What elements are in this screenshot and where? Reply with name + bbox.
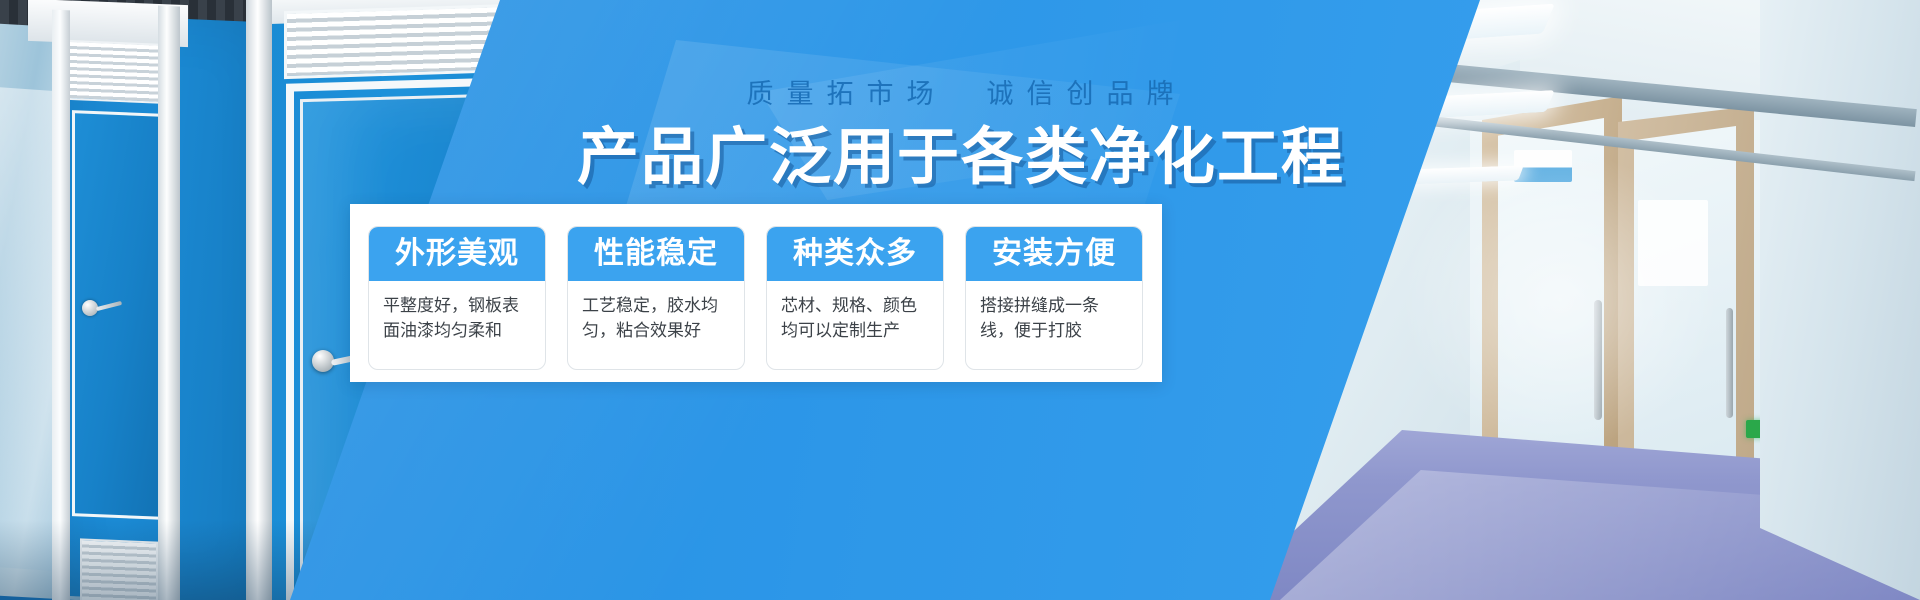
feature-card-title: 种类众多: [767, 227, 943, 281]
subtitle-phrase-right: 诚信创品牌: [987, 79, 1187, 109]
feature-card[interactable]: 性能稳定 工艺稳定，胶水均匀，粘合效果好: [567, 226, 745, 370]
feature-card-title: 外形美观: [369, 227, 545, 281]
promo-banner: 质量拓市场诚信创品牌 产品广泛用于各类净化工程 外形美观 平整度好，钢板表面油漆…: [0, 0, 1920, 600]
feature-card[interactable]: 外形美观 平整度好，钢板表面油漆均匀柔和: [368, 226, 546, 370]
feature-card-body: 工艺稳定，胶水均匀，粘合效果好: [568, 281, 744, 369]
banner-headline: 产品广泛用于各类净化工程: [0, 106, 1920, 196]
feature-card-body: 芯材、规格、颜色均可以定制生产: [767, 281, 943, 369]
feature-card[interactable]: 种类众多 芯材、规格、颜色均可以定制生产: [766, 226, 944, 370]
subtitle-phrase-left: 质量拓市场: [747, 79, 947, 109]
feature-card[interactable]: 安装方便 搭接拼缝成一条线，便于打胶: [965, 226, 1143, 370]
feature-card-title: 安装方便: [966, 227, 1142, 281]
feature-card-body: 平整度好，钢板表面油漆均匀柔和: [369, 281, 545, 369]
feature-card-list: 外形美观 平整度好，钢板表面油漆均匀柔和 性能稳定 工艺稳定，胶水均匀，粘合效果…: [368, 226, 1146, 368]
feature-card-title: 性能稳定: [568, 227, 744, 281]
feature-card-body: 搭接拼缝成一条线，便于打胶: [966, 281, 1142, 369]
